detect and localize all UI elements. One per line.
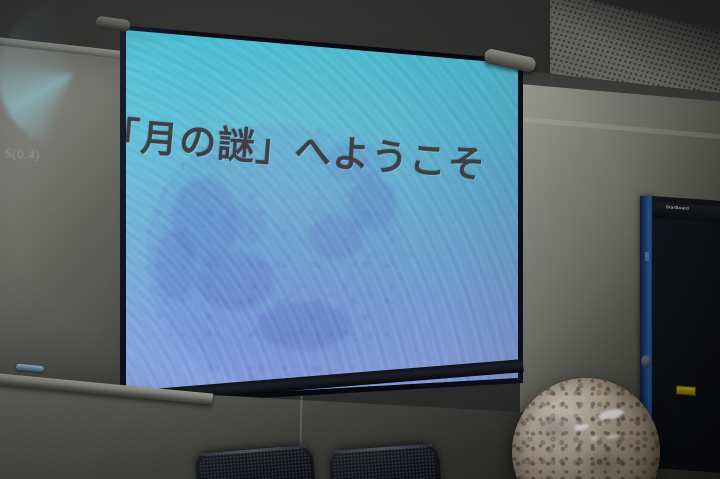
starboard-knob[interactable]	[641, 355, 652, 369]
starboard-panel[interactable]	[652, 196, 720, 474]
starboard-port	[645, 252, 649, 261]
starboard-yellow-sticker	[676, 385, 696, 395]
classroom-photo: R S(0,4) n StarBoard 「月の謎」へようこそ	[0, 0, 720, 479]
chair-back-right[interactable]	[329, 442, 442, 479]
projection-screen-surface	[112, 2, 530, 412]
moon-globe[interactable]	[512, 378, 660, 479]
